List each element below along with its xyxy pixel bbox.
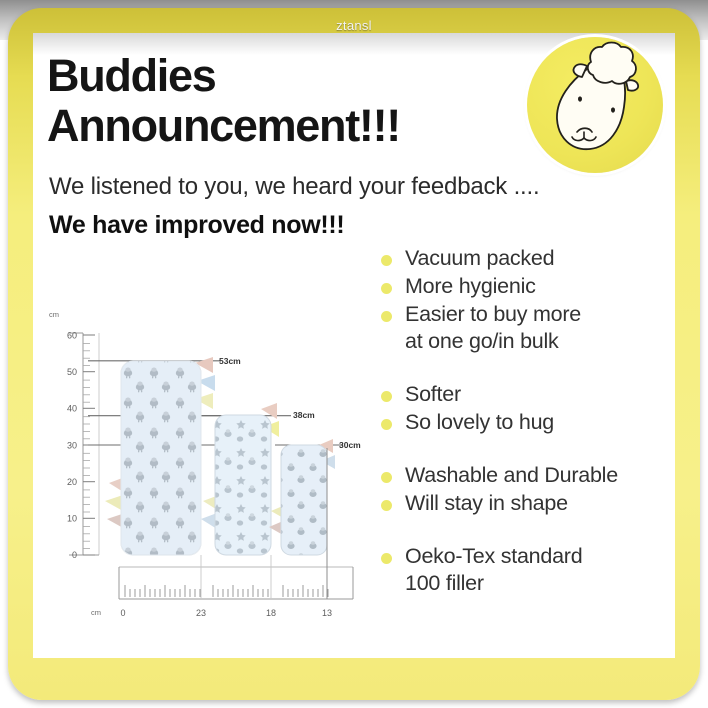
y-axis-ruler: cm	[49, 310, 99, 560]
list-item-label: Washable and Durable	[405, 462, 618, 489]
list-item: More hygienic	[381, 273, 671, 300]
chart-svg: cm	[43, 305, 373, 625]
bullet-dot-icon	[381, 472, 392, 483]
bullet-dot-icon	[381, 553, 392, 564]
title-line-2: Announcement!!!	[47, 101, 517, 151]
list-item-label: Softer	[405, 381, 461, 408]
size-comparison-chart: cm	[43, 305, 373, 625]
list-item-label: Vacuum packed	[405, 245, 554, 272]
x-tick-13: 13	[322, 608, 332, 618]
y-axis-unit: cm	[49, 310, 59, 319]
sheep-face-icon	[527, 37, 663, 173]
list-item: Will stay in shape	[381, 490, 671, 517]
page-title: Buddies Announcement!!!	[47, 51, 517, 151]
list-item-line-1: Easier to buy more	[405, 302, 581, 326]
list-item-label: Easier to buy more at one go/in bulk	[405, 301, 581, 355]
x-tick-18: 18	[266, 608, 276, 618]
list-item: Softer	[381, 381, 671, 408]
title-line-1: Buddies	[47, 50, 215, 101]
content-card: Buddies Announcement!!! We listened to y…	[33, 33, 675, 658]
annotation-38cm: 38cm	[293, 410, 315, 420]
watermark-text: ztansl	[0, 18, 708, 33]
feature-group-3: Washable and Durable Will stay in shape	[381, 462, 671, 517]
bullet-dot-icon	[381, 283, 392, 294]
subtitle-line-2: We have improved now!!!	[49, 211, 344, 240]
list-item: Washable and Durable	[381, 462, 671, 489]
y-tick-50: 50	[67, 367, 77, 377]
x-tick-0: 0	[120, 608, 125, 618]
bullet-dot-icon	[381, 391, 392, 402]
poster: ztansl Buddies Announcement!!! We listen…	[0, 0, 708, 708]
annotation-30cm: 30cm	[339, 440, 361, 450]
list-item-label: Oeko-Tex standard 100 filler	[405, 543, 582, 597]
list-item-line-1: Oeko-Tex standard	[405, 544, 582, 568]
bullet-dot-icon	[381, 500, 392, 511]
list-item: Oeko-Tex standard 100 filler	[381, 543, 671, 597]
list-item-line-2: at one go/in bulk	[405, 328, 581, 355]
list-item-label: Will stay in shape	[405, 490, 568, 517]
pillow-small	[269, 439, 335, 555]
pillow-medium	[201, 403, 279, 555]
bullet-dot-icon	[381, 255, 392, 266]
y-tick-30: 30	[67, 440, 77, 450]
brand-logo	[527, 37, 663, 173]
subtitle-line-1: We listened to you, we heard your feedba…	[49, 173, 539, 201]
y-tick-0: 0	[72, 550, 77, 560]
pillow-large	[105, 357, 215, 555]
feature-group-2: Softer So lovely to hug	[381, 381, 671, 436]
bullet-dot-icon	[381, 419, 392, 430]
feature-list: Vacuum packed More hygienic Easier to bu…	[381, 245, 671, 598]
y-tick-60: 60	[67, 330, 77, 340]
feature-group-4: Oeko-Tex standard 100 filler	[381, 543, 671, 597]
x-axis-unit: cm	[91, 608, 101, 617]
list-item-line-2: 100 filler	[405, 570, 582, 597]
annotation-53cm: 53cm	[219, 356, 241, 366]
list-item-label: More hygienic	[405, 273, 536, 300]
list-item: Vacuum packed	[381, 245, 671, 272]
y-tick-40: 40	[67, 404, 77, 414]
list-item: Easier to buy more at one go/in bulk	[381, 301, 671, 355]
y-tick-10: 10	[67, 514, 77, 524]
list-item: So lovely to hug	[381, 409, 671, 436]
feature-group-1: Vacuum packed More hygienic Easier to bu…	[381, 245, 671, 355]
x-tick-23: 23	[196, 608, 206, 618]
list-item-label: So lovely to hug	[405, 409, 554, 436]
y-tick-20: 20	[67, 477, 77, 487]
bullet-dot-icon	[381, 311, 392, 322]
